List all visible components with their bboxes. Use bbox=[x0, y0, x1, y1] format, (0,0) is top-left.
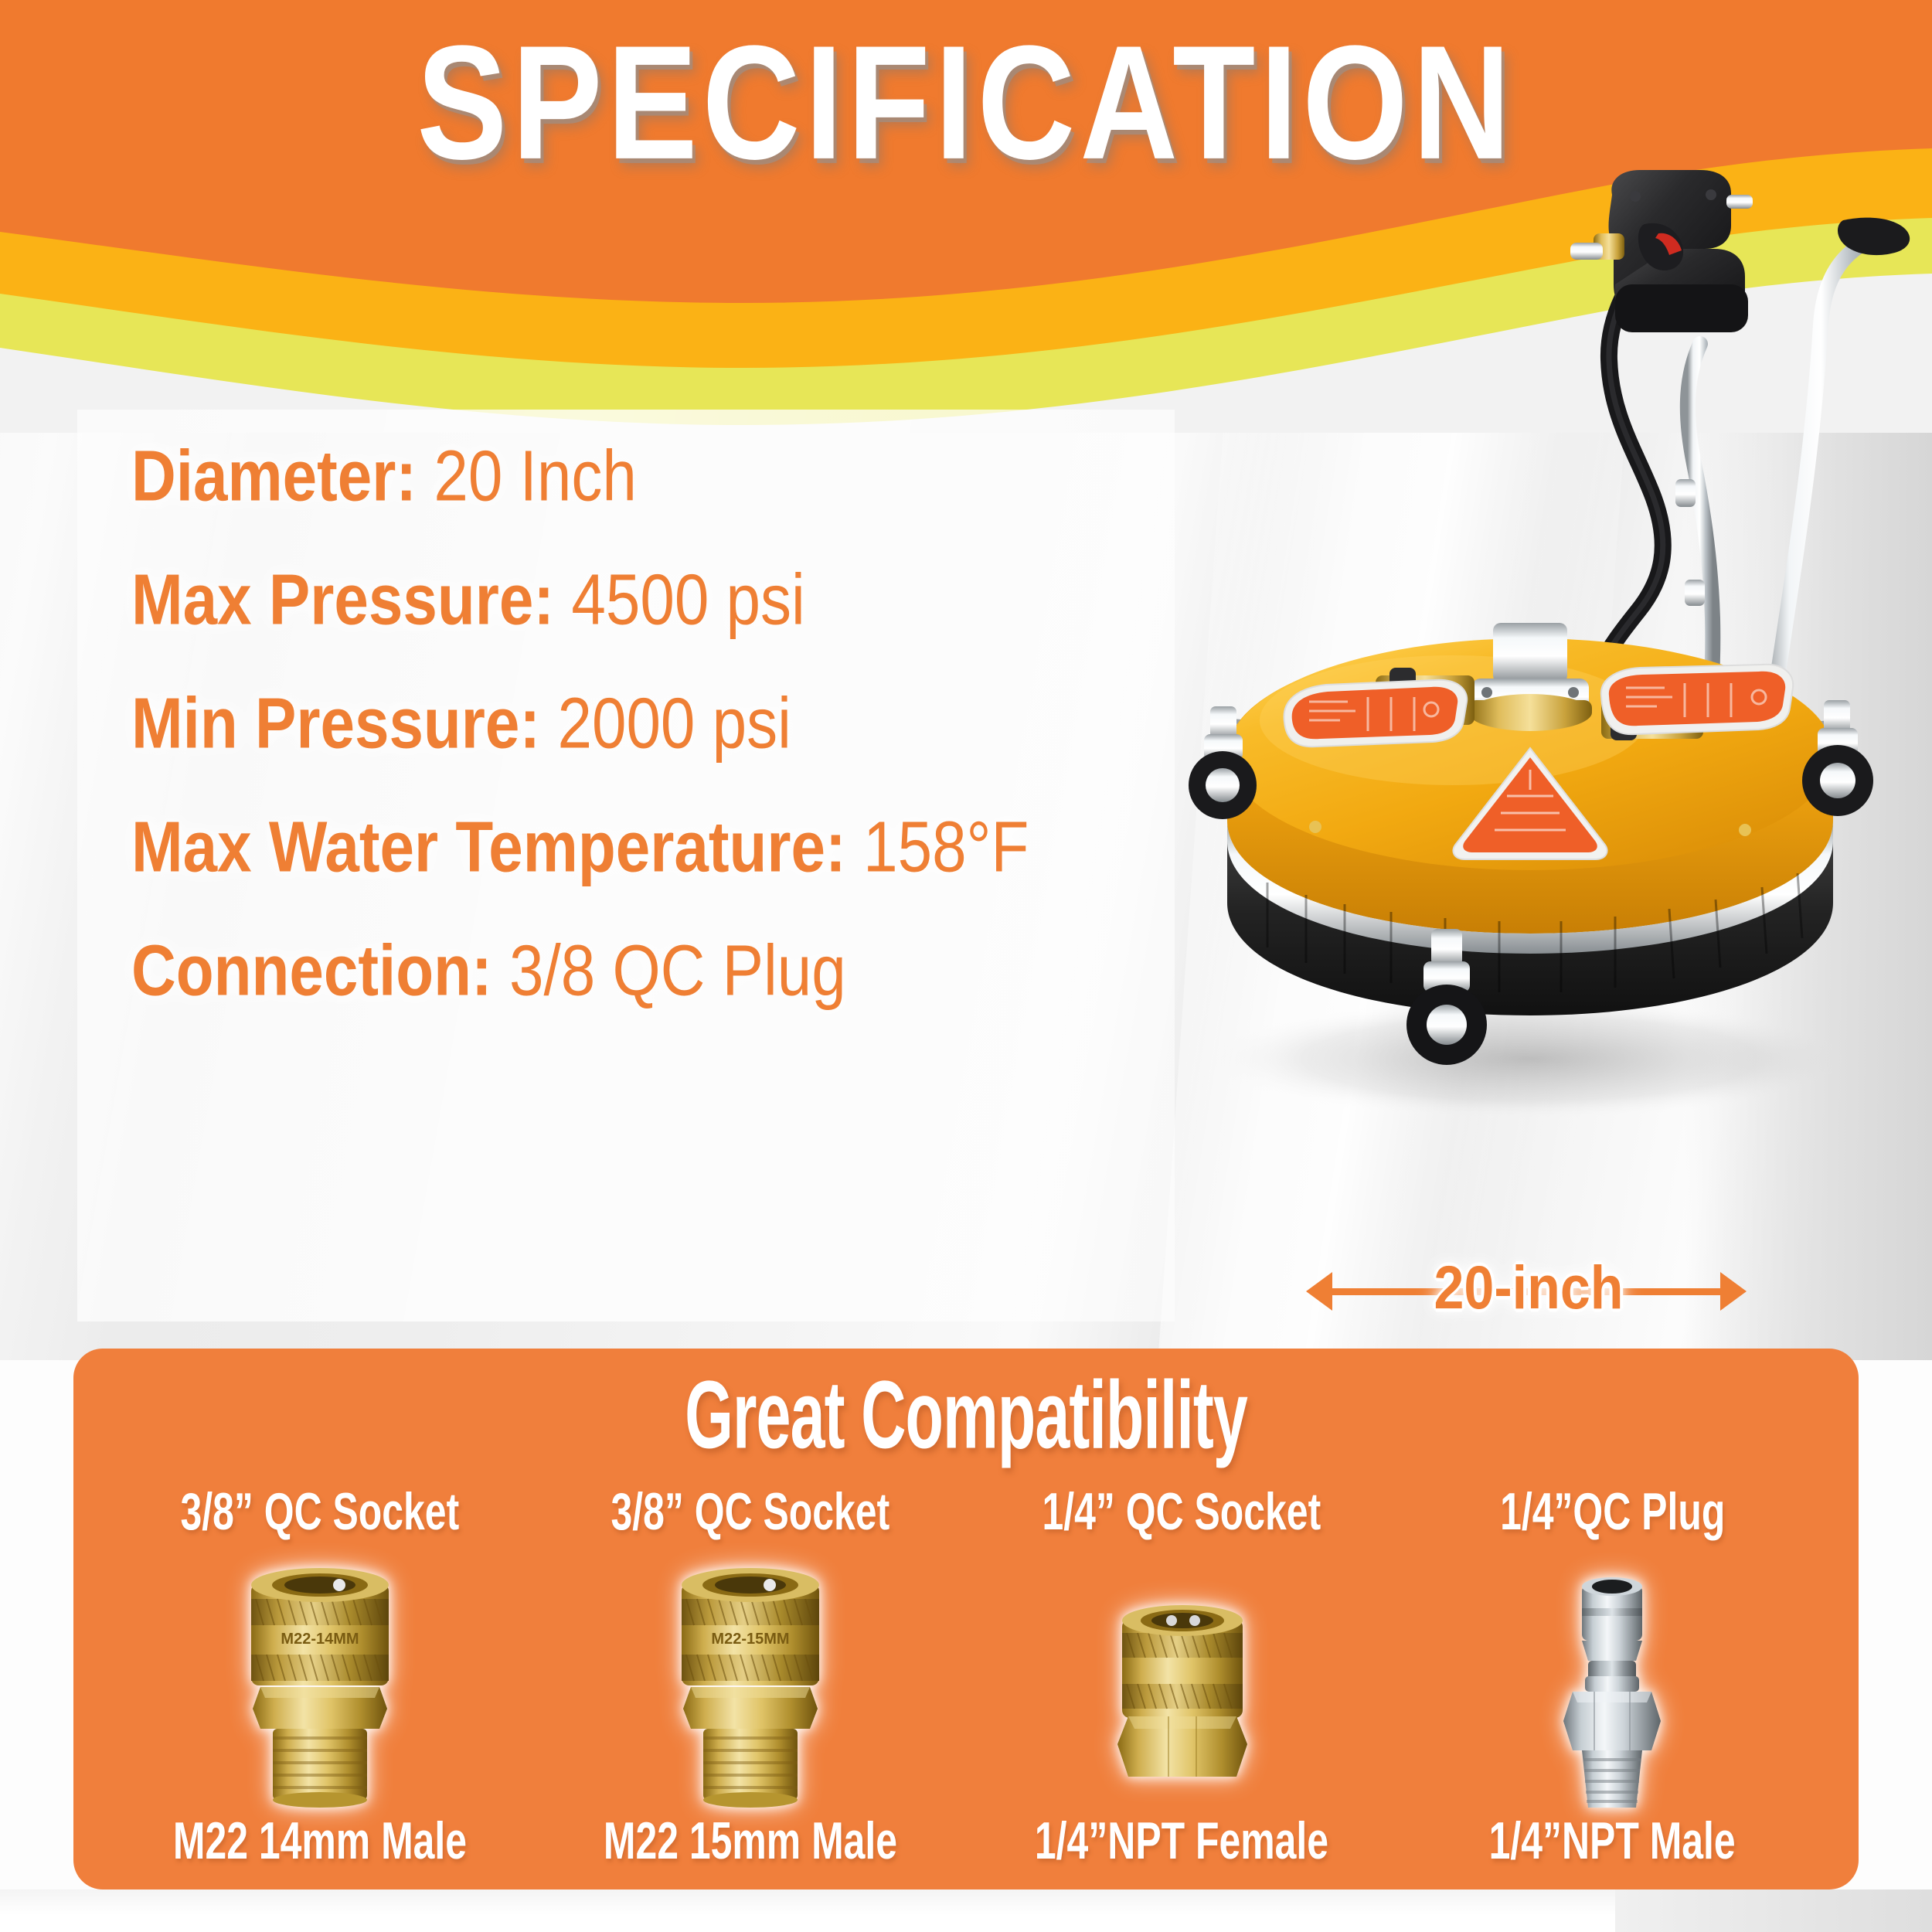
fitting-image-brass-socket-short bbox=[1077, 1562, 1286, 1817]
fitting-top-label: 3/8” QC Socket bbox=[180, 1486, 459, 1539]
fitting-engraving: M22-15MM bbox=[712, 1631, 790, 1648]
fitting-item: 3/8” QC Socket bbox=[104, 1488, 536, 1866]
warning-decal-left bbox=[1284, 680, 1468, 747]
fitting-top-label: 1/4”QC Plug bbox=[1500, 1486, 1725, 1539]
dimension-label: 20-inch bbox=[1420, 1257, 1637, 1318]
spec-value: 20 Inch bbox=[434, 440, 636, 512]
spec-label: Diameter: bbox=[131, 440, 417, 512]
fitting-image-steel-plug bbox=[1508, 1562, 1716, 1817]
product-image bbox=[1144, 147, 1932, 1267]
spec-value: 4500 psi bbox=[571, 564, 804, 636]
compatibility-title: Great Compatibility bbox=[127, 1367, 1804, 1464]
fitting-top-label: 1/4” QC Socket bbox=[1042, 1486, 1321, 1539]
fitting-item: 3/8” QC Socket bbox=[536, 1488, 967, 1866]
fitting-bottom-label: M22 15mm Male bbox=[604, 1815, 897, 1868]
spec-row: Connection: 3/8 QC Plug bbox=[131, 935, 1213, 1079]
fitting-item: 1/4”QC Plug bbox=[1397, 1488, 1828, 1866]
bottom-right-shade bbox=[1615, 1889, 1932, 1932]
fittings-grid: 3/8” QC Socket bbox=[104, 1488, 1828, 1866]
spec-label: Max Water Temperature: bbox=[131, 811, 846, 883]
fitting-image-brass-socket-long: M22-14MM bbox=[216, 1562, 424, 1817]
spec-value: 2000 psi bbox=[557, 688, 791, 760]
fitting-engraving: M22-14MM bbox=[281, 1631, 359, 1648]
dimension-indicator: 20-inch bbox=[1306, 1256, 1747, 1325]
spec-list: Diameter: 20 Inch Max Pressure: 4500 psi… bbox=[131, 440, 1213, 1059]
fitting-bottom-label: 1/4”NPT Female bbox=[1035, 1815, 1328, 1868]
fitting-bottom-label: 1/4”NPT Male bbox=[1489, 1815, 1736, 1868]
spec-value: 3/8 QC Plug bbox=[509, 935, 846, 1007]
spec-label: Max Pressure: bbox=[131, 564, 554, 636]
fitting-top-label: 3/8” QC Socket bbox=[611, 1486, 890, 1539]
spec-label: Connection: bbox=[131, 935, 492, 1007]
arrow-right-icon bbox=[1720, 1272, 1747, 1311]
specification-infographic: SPECIFICATION Diameter: 20 Inch Max Pres… bbox=[0, 0, 1932, 1932]
warning-decal-right bbox=[1601, 665, 1793, 734]
spec-value: 158°F bbox=[863, 811, 1029, 883]
compatibility-panel: Great Compatibility 3/8” QC Socket bbox=[73, 1349, 1859, 1889]
fitting-item: 1/4” QC Socket bbox=[966, 1488, 1397, 1866]
fitting-image-brass-socket-long-2: M22-15MM bbox=[646, 1562, 855, 1817]
fitting-bottom-label: M22 14mm Male bbox=[173, 1815, 467, 1868]
spec-label: Min Pressure: bbox=[131, 688, 540, 760]
